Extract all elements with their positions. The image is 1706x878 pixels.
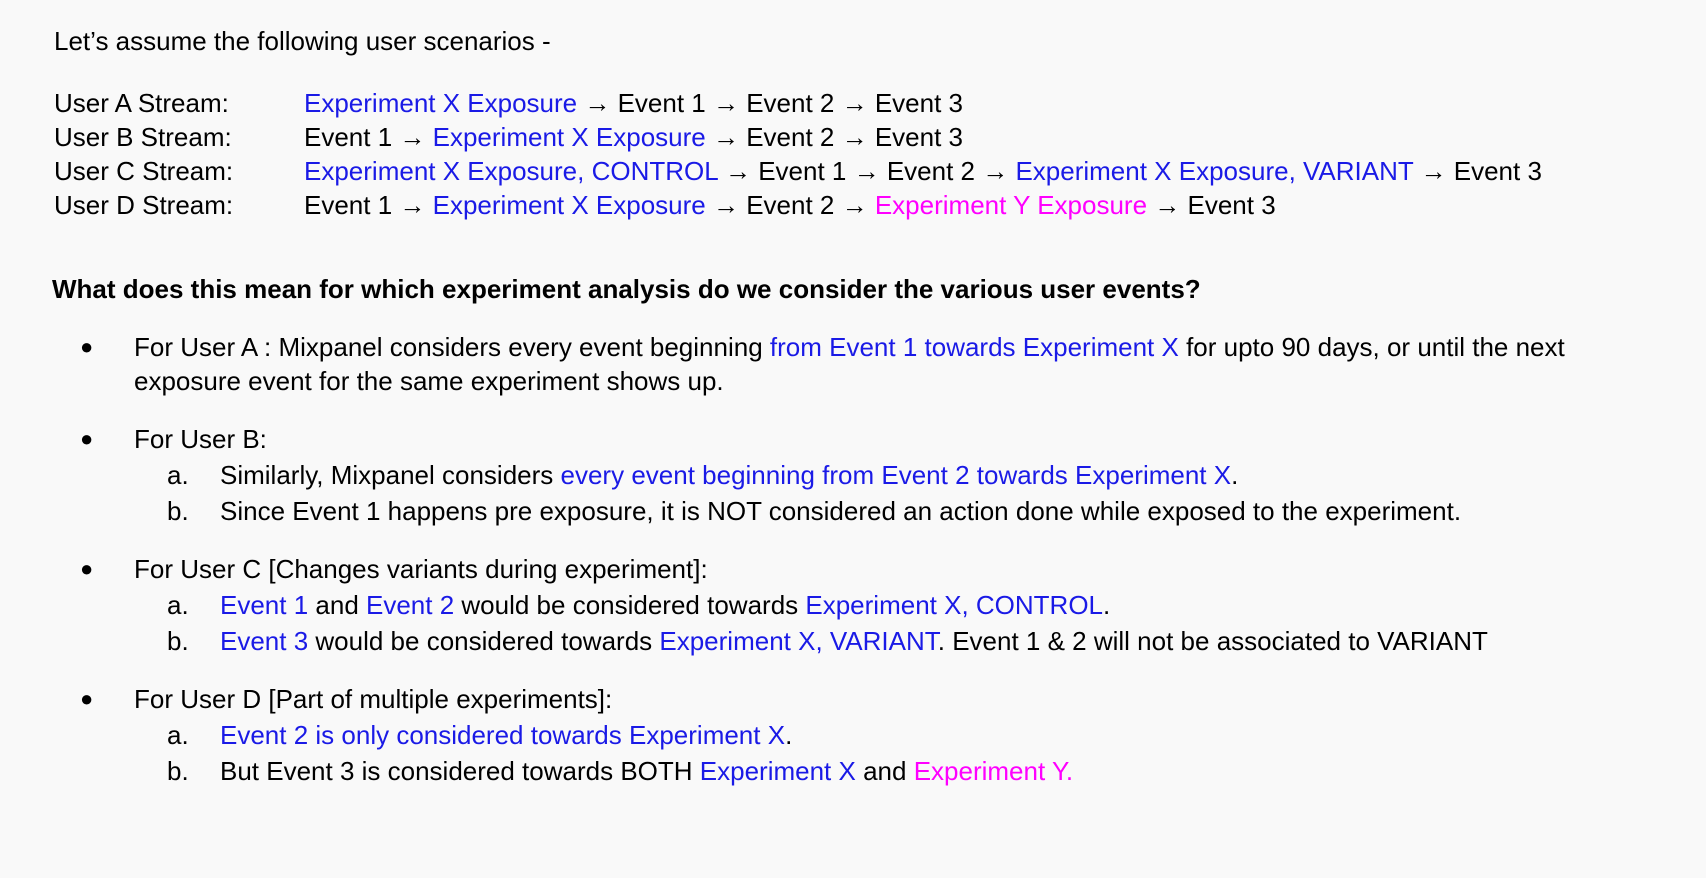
sub-item-text: But Event 3 is considered towards BOTH E… bbox=[220, 754, 1672, 788]
sub-item-text: Since Event 1 happens pre exposure, it i… bbox=[220, 494, 1672, 528]
text-segment: Similarly, Mixpanel considers bbox=[220, 460, 561, 490]
text-segment: Event 2 bbox=[887, 156, 975, 186]
sub-item-marker: a. bbox=[52, 458, 220, 492]
text-segment: Event 1 bbox=[618, 88, 706, 118]
highlight-segment-blue: Experiment X Exposure bbox=[304, 88, 577, 118]
sub-item-text: Event 2 is only considered towards Exper… bbox=[220, 718, 1672, 752]
bullet-item: ●For User A : Mixpanel considers every e… bbox=[52, 330, 1672, 398]
bullet-dot-icon: ● bbox=[52, 682, 134, 716]
text-segment: → bbox=[706, 88, 746, 118]
sub-item-marker: a. bbox=[52, 718, 220, 752]
bullet-dot-icon: ● bbox=[52, 330, 134, 364]
stream-row: User A Stream:Experiment X Exposure → Ev… bbox=[54, 86, 1542, 120]
text-segment: → bbox=[392, 122, 432, 152]
document-page: Let’s assume the following user scenario… bbox=[0, 0, 1706, 878]
text-segment: Event 2 bbox=[746, 190, 834, 220]
text-segment: → bbox=[834, 88, 874, 118]
sub-item-text: Event 3 would be considered towards Expe… bbox=[220, 624, 1672, 658]
sub-list-item: a.Event 2 is only considered towards Exp… bbox=[52, 718, 1672, 752]
text-segment: and bbox=[856, 756, 914, 786]
text-segment: . Event 1 & 2 will not be associated to … bbox=[938, 626, 1488, 656]
bullet-text: For User A : Mixpanel considers every ev… bbox=[134, 330, 1672, 398]
bullet-text: For User B: bbox=[134, 422, 1672, 456]
highlight-segment-blue: Experiment X Exposure, CONTROL bbox=[304, 156, 718, 186]
text-segment: Since Event 1 happens pre exposure, it i… bbox=[220, 496, 1461, 526]
sub-list-item: b.But Event 3 is considered towards BOTH… bbox=[52, 754, 1672, 788]
text-segment: . bbox=[1103, 590, 1110, 620]
highlight-segment-blue: from Event 1 towards Experiment X bbox=[770, 332, 1179, 362]
bullet-dot-icon: ● bbox=[52, 422, 134, 456]
text-segment: → bbox=[577, 88, 617, 118]
text-segment: → bbox=[975, 156, 1015, 186]
sub-list-item: a.Event 1 and Event 2 would be considere… bbox=[52, 588, 1672, 622]
stream-row: User B Stream:Event 1 → Experiment X Exp… bbox=[54, 120, 1542, 154]
sub-list-item: b.Since Event 1 happens pre exposure, it… bbox=[52, 494, 1672, 528]
stream-row: User D Stream:Event 1 → Experiment X Exp… bbox=[54, 188, 1542, 222]
sub-list-item: a.Similarly, Mixpanel considers every ev… bbox=[52, 458, 1672, 492]
highlight-segment-blue: Experiment X, VARIANT bbox=[659, 626, 937, 656]
text-segment: . bbox=[1231, 460, 1238, 490]
text-segment: But Event 3 is considered towards BOTH bbox=[220, 756, 700, 786]
bullet-dot-icon: ● bbox=[52, 552, 134, 586]
sub-item-marker: b. bbox=[52, 754, 220, 788]
stream-chain: Experiment X Exposure, CONTROL → Event 1… bbox=[304, 154, 1542, 188]
highlight-segment-blue: Event 1 bbox=[220, 590, 308, 620]
bullet-block: ●For User A : Mixpanel considers every e… bbox=[52, 330, 1672, 398]
sub-item-text: Similarly, Mixpanel considers every even… bbox=[220, 458, 1672, 492]
sub-list-item: b.Event 3 would be considered towards Ex… bbox=[52, 624, 1672, 658]
text-segment: Event 3 bbox=[875, 88, 963, 118]
question-heading: What does this mean for which experiment… bbox=[52, 272, 1201, 306]
intro-paragraph: Let’s assume the following user scenario… bbox=[54, 24, 551, 58]
stream-chain: Event 1 → Experiment X Exposure → Event … bbox=[304, 188, 1276, 222]
text-segment: → bbox=[834, 122, 874, 152]
highlight-segment-blue: Event 2 bbox=[366, 590, 454, 620]
text-segment: For User C [Changes variants during expe… bbox=[134, 554, 708, 584]
bullet-block: ●For User C [Changes variants during exp… bbox=[52, 552, 1672, 658]
highlight-segment-magenta: Experiment Y. bbox=[914, 756, 1073, 786]
highlight-segment-blue: every event beginning from Event 2 towar… bbox=[561, 460, 1232, 490]
text-segment: Event 2 bbox=[746, 122, 834, 152]
sub-item-marker: a. bbox=[52, 588, 220, 622]
bullet-text: For User D [Part of multiple experiments… bbox=[134, 682, 1672, 716]
highlight-segment-blue: Experiment X Exposure bbox=[433, 122, 706, 152]
sub-item-marker: b. bbox=[52, 494, 220, 528]
explanation-bullet-list: ●For User A : Mixpanel considers every e… bbox=[52, 330, 1672, 788]
text-segment: and bbox=[308, 590, 366, 620]
text-segment: → bbox=[1413, 156, 1453, 186]
text-segment: → bbox=[1147, 190, 1187, 220]
highlight-segment-blue: Event 3 bbox=[220, 626, 308, 656]
text-segment: Event 1 bbox=[304, 122, 392, 152]
stream-label: User D Stream: bbox=[54, 188, 304, 222]
highlight-segment-magenta: Experiment Y Exposure bbox=[875, 190, 1147, 220]
text-segment: Event 1 bbox=[758, 156, 846, 186]
highlight-segment-blue: Experiment X Exposure bbox=[433, 190, 706, 220]
text-segment: For User A : Mixpanel considers every ev… bbox=[134, 332, 770, 362]
text-segment: → bbox=[392, 190, 432, 220]
sub-item-text: Event 1 and Event 2 would be considered … bbox=[220, 588, 1672, 622]
stream-chain: Experiment X Exposure → Event 1 → Event … bbox=[304, 86, 963, 120]
bullet-block: ●For User B:a.Similarly, Mixpanel consid… bbox=[52, 422, 1672, 528]
text-segment: . bbox=[785, 720, 792, 750]
text-segment: → bbox=[834, 190, 874, 220]
stream-chain: Event 1 → Experiment X Exposure → Event … bbox=[304, 120, 963, 154]
sub-item-marker: b. bbox=[52, 624, 220, 658]
bullet-text: For User C [Changes variants during expe… bbox=[134, 552, 1672, 586]
text-segment: Event 3 bbox=[1454, 156, 1542, 186]
stream-row: User C Stream:Experiment X Exposure, CON… bbox=[54, 154, 1542, 188]
highlight-segment-blue: Experiment X bbox=[700, 756, 856, 786]
user-streams-list: User A Stream:Experiment X Exposure → Ev… bbox=[54, 86, 1542, 222]
text-segment: For User B: bbox=[134, 424, 267, 454]
bullet-item: ●For User D [Part of multiple experiment… bbox=[52, 682, 1672, 716]
highlight-segment-blue: Event 2 is only considered towards Exper… bbox=[220, 720, 785, 750]
text-segment: Event 3 bbox=[875, 122, 963, 152]
bullet-item: ●For User B: bbox=[52, 422, 1672, 456]
stream-label: User C Stream: bbox=[54, 154, 304, 188]
text-segment: → bbox=[846, 156, 886, 186]
text-segment: For User D [Part of multiple experiments… bbox=[134, 684, 612, 714]
text-segment: would be considered towards bbox=[308, 626, 659, 656]
text-segment: Event 3 bbox=[1187, 190, 1275, 220]
text-segment: Event 2 bbox=[746, 88, 834, 118]
text-segment: would be considered towards bbox=[454, 590, 805, 620]
text-segment: → bbox=[718, 156, 758, 186]
text-segment: → bbox=[706, 122, 746, 152]
stream-label: User A Stream: bbox=[54, 86, 304, 120]
text-segment: Event 1 bbox=[304, 190, 392, 220]
text-segment: → bbox=[706, 190, 746, 220]
stream-label: User B Stream: bbox=[54, 120, 304, 154]
highlight-segment-blue: Experiment X, CONTROL bbox=[805, 590, 1103, 620]
highlight-segment-blue: Experiment X Exposure, VARIANT bbox=[1015, 156, 1413, 186]
bullet-block: ●For User D [Part of multiple experiment… bbox=[52, 682, 1672, 788]
bullet-item: ●For User C [Changes variants during exp… bbox=[52, 552, 1672, 586]
